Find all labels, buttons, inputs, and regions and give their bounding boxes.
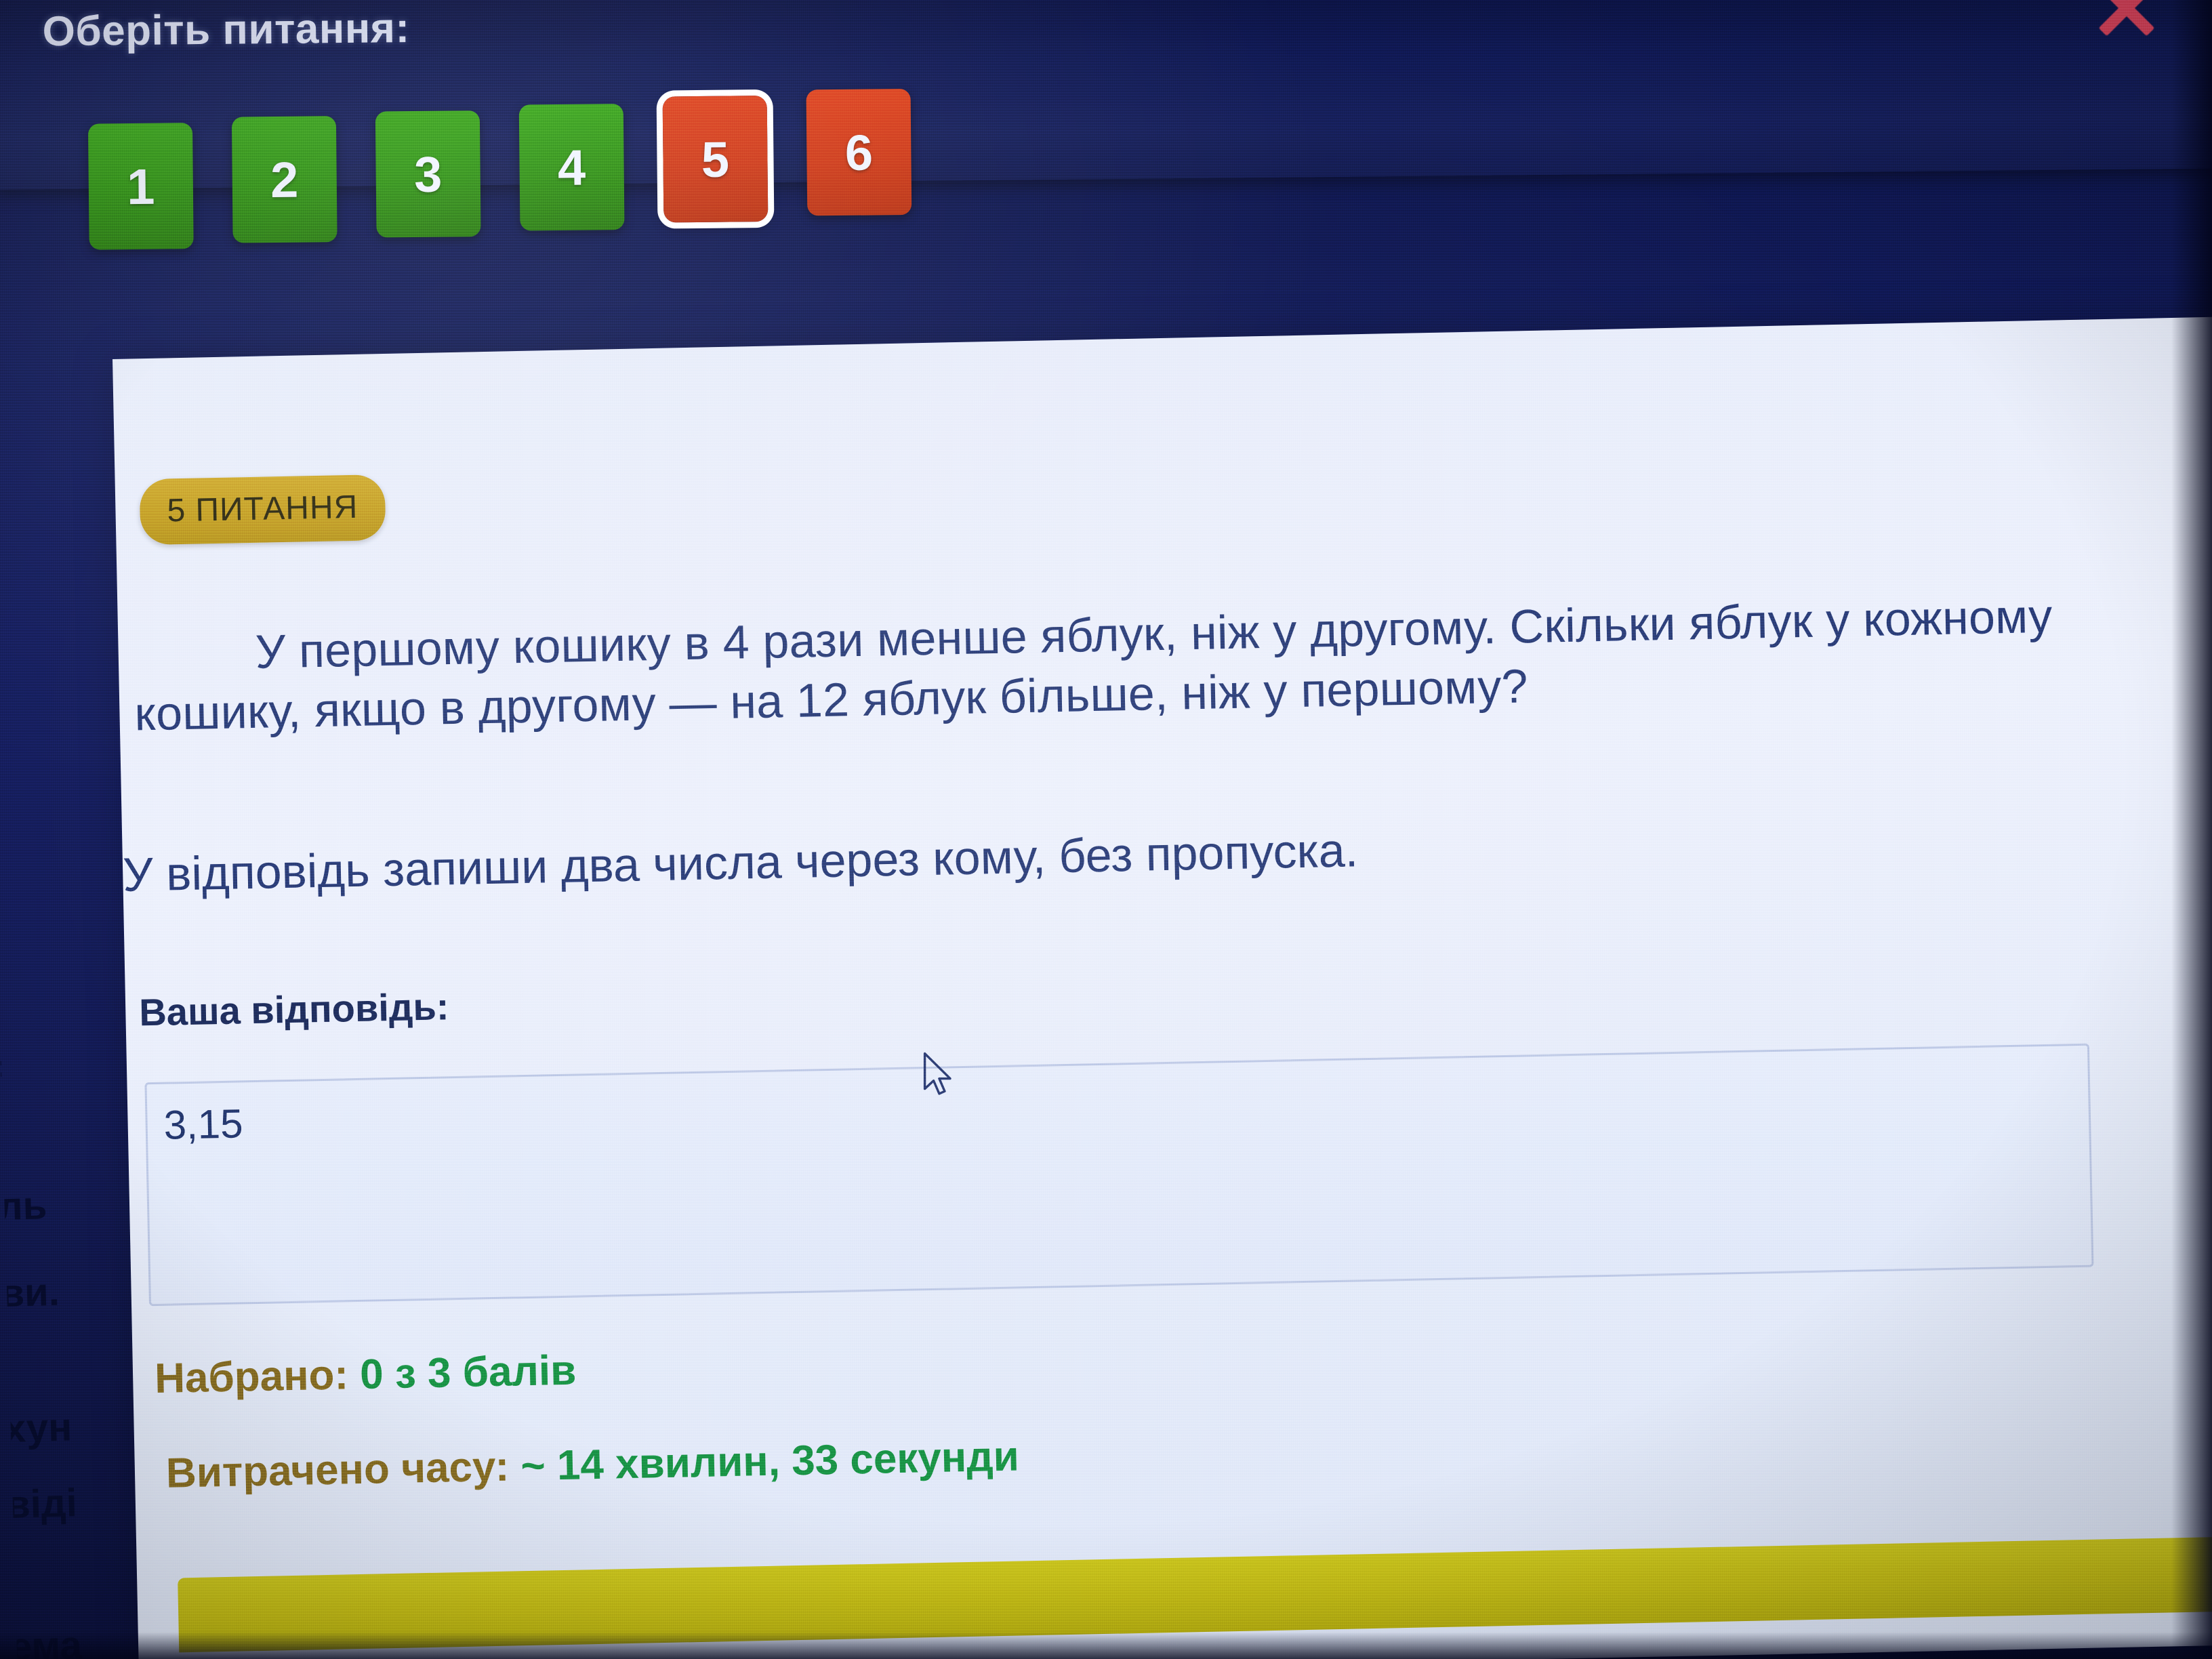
question-nav-button-5[interactable]: 5 <box>663 96 769 222</box>
question-nav-label: 3 <box>414 145 443 203</box>
time-spent-line: Витрачено часу: ~ 14 хвилин, 33 секунди <box>165 1432 1019 1497</box>
question-nav-button-2[interactable]: 2 <box>232 116 337 243</box>
background-text-fragments: : ль ви. хун віді ема <box>0 1040 140 1659</box>
background-text-fragment: : <box>0 1050 5 1082</box>
question-nav-button-4[interactable]: 4 <box>519 104 625 230</box>
question-nav-button-1[interactable]: 1 <box>88 123 194 249</box>
answer-label: Ваша відповідь: <box>139 984 449 1034</box>
background-text-fragment: віді <box>5 1483 77 1525</box>
background-text-fragment: хун <box>3 1408 73 1449</box>
score-label: Набрано: <box>155 1351 349 1402</box>
question-nav-button-6[interactable]: 6 <box>806 89 912 216</box>
score-line: Набрано: 0 з 3 балів <box>154 1347 576 1403</box>
question-nav: 1 2 3 4 5 6 <box>88 108 912 250</box>
answer-instruction: У відповідь запиши два числа через кому,… <box>122 804 2163 905</box>
score-value: 0 з 3 балів <box>360 1347 577 1398</box>
background-text-fragment: ви. <box>0 1273 60 1313</box>
time-spent-value: ~ 14 хвилин, 33 секунди <box>520 1433 1020 1490</box>
question-nav-label: 5 <box>701 130 730 188</box>
close-icon[interactable] <box>2090 0 2163 45</box>
background-text-fragment: ема <box>9 1626 82 1659</box>
question-nav-label: 6 <box>844 123 873 181</box>
question-text-body: У першому кошику в 4 рази менше яблук, н… <box>134 590 2053 741</box>
answer-input-value: 3,15 <box>163 1100 243 1148</box>
answer-input[interactable]: 3,15 <box>144 1044 2093 1307</box>
page-title: Оберіть питання: <box>42 4 410 56</box>
background-text-fragment: ль <box>0 1186 47 1227</box>
question-card: 5 ПИТАННЯ У першому кошику в 4 рази менш… <box>112 316 2212 1659</box>
time-spent-label: Витрачено часу: <box>165 1443 510 1497</box>
bottom-accent-bar <box>178 1535 2212 1653</box>
question-picker-header: Оберіть питання: 1 2 3 4 5 6 <box>0 0 2212 190</box>
screenshot-root: : ль ви. хун віді ема Оберіть питання: 1… <box>0 0 2212 1659</box>
question-number-badge: 5 ПИТАННЯ <box>140 474 386 545</box>
question-text: У першому кошику в 4 рази менше яблук, н… <box>133 583 2175 744</box>
question-nav-button-3[interactable]: 3 <box>375 110 481 237</box>
question-nav-label: 1 <box>127 157 155 215</box>
question-nav-label: 4 <box>558 138 586 196</box>
question-nav-label: 2 <box>270 150 299 208</box>
